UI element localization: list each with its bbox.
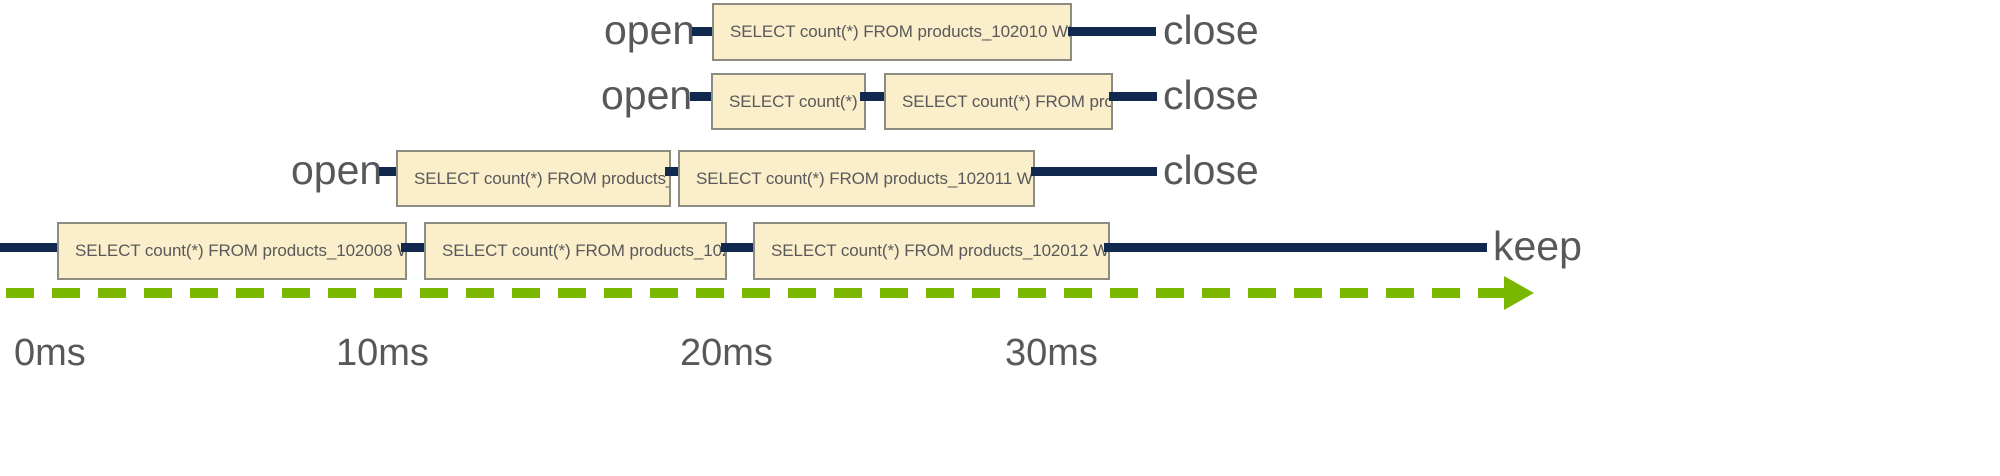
time-arrow-head-icon [1504,276,1534,310]
statement-text: SELECT count(*) FROM products_102010 WHE… [714,22,1070,42]
tick-label-0ms: 0ms [14,334,86,372]
statement-text: SELECT count(*) FROM products_… [398,169,669,189]
tick-label-10ms: 10ms [336,334,429,372]
statement-text: SELECT count(*) FROM products_102008 WHE… [59,241,405,261]
statement-box-row-3-1[interactable]: SELECT count(*) FROM products_… [396,150,671,207]
tick-label-30ms: 30ms [1005,334,1098,372]
close-label-row-3: close [1163,150,1259,191]
connection-segment-keep-row-4 [1104,243,1487,252]
statement-text: SELECT count(*) FROM products_102009 .. [426,241,725,261]
time-arrow-line [6,288,1506,298]
timeline-diagram: open SELECT count(*) FROM products_10201… [0,0,2000,476]
close-label-row-1: close [1163,10,1259,51]
statement-box-row-3-2[interactable]: SELECT count(*) FROM products_102011 WHE… [678,150,1035,207]
statement-box-row-1-1[interactable]: SELECT count(*) FROM products_102010 WHE… [712,3,1072,61]
tick-label-20ms: 20ms [680,334,773,372]
statement-text: SELECT count(*) FROM products_102012 WHE… [755,241,1108,261]
statement-text: SELECT count(*) FROM produc [886,92,1111,112]
open-label-row-1: open [604,10,695,51]
close-label-row-2: close [1163,75,1259,116]
statement-box-row-2-2[interactable]: SELECT count(*) FROM produc [884,73,1113,130]
statement-box-row-4-1[interactable]: SELECT count(*) FROM products_102008 WHE… [57,222,407,280]
keep-label-row-4: keep [1493,226,1582,267]
statement-box-row-4-2[interactable]: SELECT count(*) FROM products_102009 .. [424,222,727,280]
statement-text: SELECT count(*) … [713,92,864,112]
connection-segment-close-row-3 [1031,167,1157,176]
statement-box-row-4-3[interactable]: SELECT count(*) FROM products_102012 WHE… [753,222,1110,280]
statement-text: SELECT count(*) FROM products_102011 WHE… [680,169,1033,189]
connection-segment-close-row-1 [1068,27,1156,36]
open-label-row-2: open [601,75,692,116]
open-label-row-3: open [291,150,382,191]
connection-segment-close-row-2 [1109,92,1157,101]
statement-box-row-2-1[interactable]: SELECT count(*) … [711,73,866,130]
